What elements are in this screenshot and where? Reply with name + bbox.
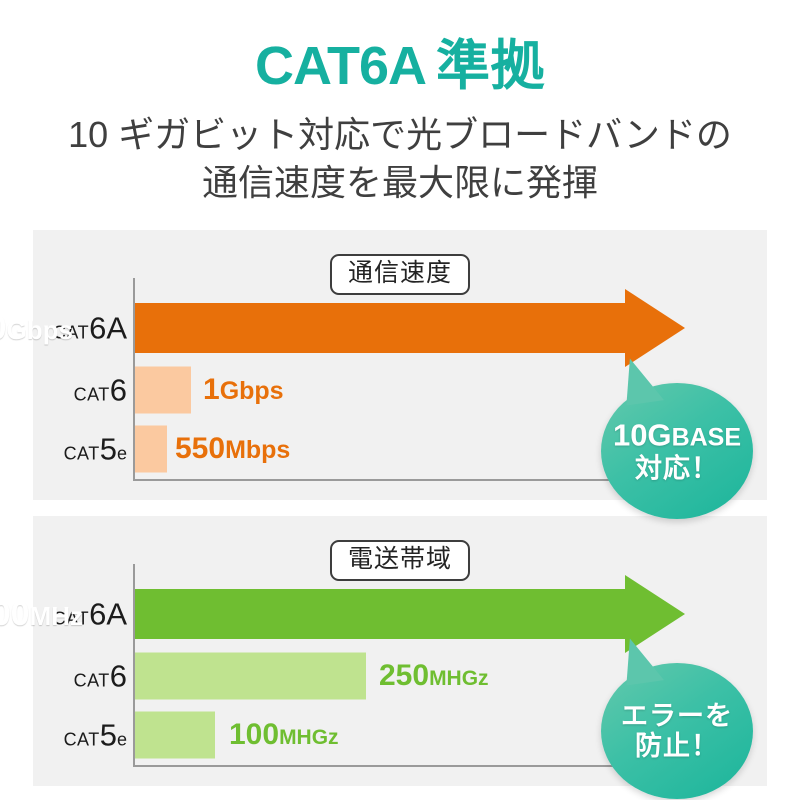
bubble-10g-label: 10G [613, 418, 672, 453]
speed-chart-x-axis [133, 479, 630, 481]
speed-cat-suffix-2: e [117, 444, 127, 464]
speed-bar-cat6 [135, 367, 191, 414]
speed-cat-prefix-1: CAT [74, 385, 110, 405]
band-cat-num-2: 5 [100, 718, 117, 753]
page-subtitle: 10 ギガビット対応で光ブロードバンドの 通信速度を最大限に発揮 [0, 95, 800, 207]
band-cat-suffix-2: e [117, 730, 127, 750]
band-cat-num-1: 6 [110, 659, 127, 694]
speed-row-label-cat6: CAT6 [7, 375, 127, 406]
band-value-big-2: 100 [229, 718, 279, 751]
bubble-line-2: 防止！ [601, 731, 753, 761]
speed-cat-num-1: 6 [110, 373, 127, 408]
band-bar-cat5e [135, 712, 215, 759]
speed-bar-value-cat6a: 10Gbps [0, 311, 73, 345]
speed-value-big-2: 550 [175, 432, 225, 465]
speed-value-big-1: 1 [203, 373, 220, 406]
speed-value-unit-0: Gbps [7, 315, 73, 345]
page-subtitle-line-2: 通信速度を最大限に発揮 [0, 159, 800, 207]
band-value-unit-2: MHGz [279, 726, 339, 749]
band-bar-value-cat6: 250MHGz [379, 661, 489, 691]
bubble-tail-icon [620, 355, 664, 406]
bubble-line-1: エラーを [601, 701, 753, 731]
band-row-label-cat6: CAT6 [7, 661, 127, 692]
page-header: CAT6A準拠 10 ギガビット対応で光ブロードバンドの 通信速度を最大限に発揮 [0, 0, 800, 206]
page-subtitle-line-1: 10 ギガビット対応で光ブロードバンドの [0, 111, 800, 159]
page-title: CAT6A準拠 [0, 0, 800, 95]
bubble-line-1: 10GBASE [601, 419, 753, 454]
speed-bar-value-cat5e: 550Mbps [175, 434, 290, 464]
band-value-unit-1: MHGz [429, 667, 489, 690]
bubble-tail-icon [620, 635, 664, 686]
speed-row-label-cat5e: CAT5e [7, 434, 127, 465]
callout-bubble-10gbase: 10GBASE 対応！ [601, 383, 753, 519]
page-title-en: CAT6A [255, 36, 426, 96]
callout-bubble-10gbase-text: 10GBASE 対応！ [601, 419, 753, 484]
speed-cat-num-2: 5 [100, 432, 117, 467]
speed-cat-prefix-2: CAT [64, 444, 100, 464]
bubble-base-label: BASE [672, 424, 741, 452]
band-chart-x-axis [133, 765, 630, 767]
band-bar-value-cat5e: 100MHGz [229, 720, 339, 750]
band-bar-cat6 [135, 653, 366, 700]
speed-bar-cat5e [135, 426, 167, 473]
table-row: CAT6A 500MHz [33, 588, 767, 640]
callout-bubble-error-prevention: エラーを 防止！ [601, 663, 753, 799]
page-title-jp: 準拠 [436, 36, 545, 96]
band-value-unit-0: MHz [30, 601, 83, 631]
callout-bubble-error-text: エラーを 防止！ [601, 701, 753, 761]
speed-arrow-body [135, 303, 625, 353]
bubble-line-2: 対応！ [601, 453, 753, 483]
speed-bar-value-cat6: 1Gbps [203, 375, 284, 405]
band-arrow-body [135, 589, 625, 639]
band-row-label-cat5e: CAT5e [7, 720, 127, 751]
band-value-big-1: 250 [379, 659, 429, 692]
speed-value-unit-1: Gbps [220, 377, 284, 405]
table-row: CAT6A 10Gbps [33, 302, 767, 354]
band-value-big-0: 500 [0, 595, 30, 633]
band-cat-num-0: 6A [89, 597, 127, 632]
band-cat-prefix-2: CAT [64, 730, 100, 750]
speed-cat-num-0: 6A [89, 311, 127, 346]
speed-value-unit-2: Mbps [225, 436, 290, 464]
band-bar-value-cat6a: 500MHz [0, 597, 83, 631]
band-cat-prefix-1: CAT [74, 671, 110, 691]
